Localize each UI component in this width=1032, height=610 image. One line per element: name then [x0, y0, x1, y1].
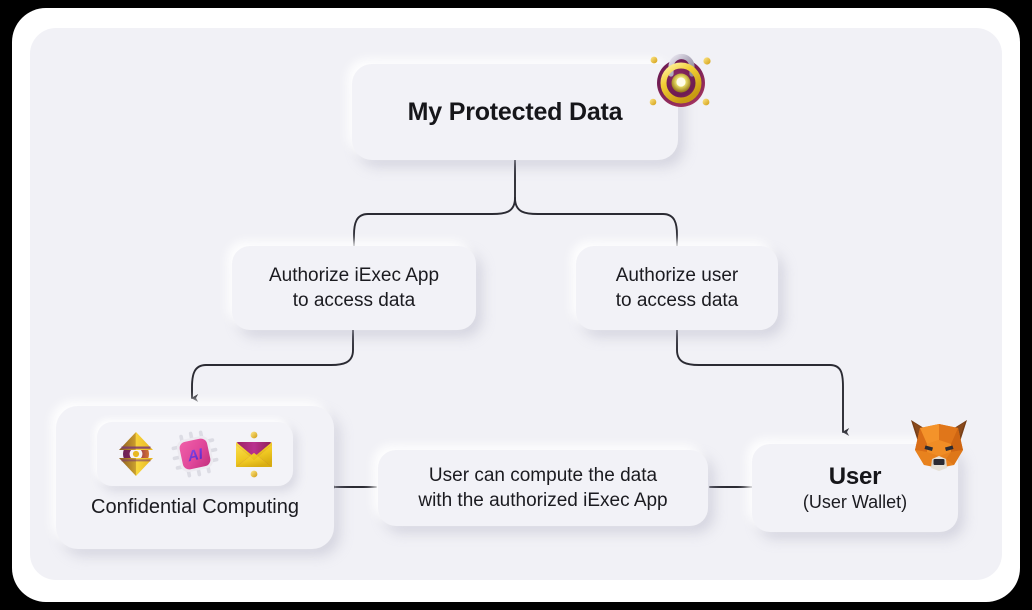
padlock-icon — [645, 50, 715, 120]
node-my-protected-data[interactable]: My Protected Data — [352, 64, 678, 160]
node-authorize-iexec-app[interactable]: Authorize iExec App to access data — [232, 246, 476, 330]
confidential-icon-panel: AI — [97, 422, 293, 486]
metamask-fox-icon — [908, 418, 970, 474]
node-title: User — [829, 463, 882, 491]
node-title: My Protected Data — [408, 98, 623, 127]
node-subtitle: (User Wallet) — [803, 492, 907, 513]
node-line-1: Authorize iExec App — [269, 263, 439, 288]
envelope-icon — [229, 429, 279, 479]
node-user-can-compute[interactable]: User can compute the data with the autho… — [378, 450, 708, 526]
node-line-1: User can compute the data — [429, 463, 657, 488]
screenshot-root: My Protected Data — [0, 0, 1032, 610]
node-line-2: to access data — [293, 288, 416, 313]
node-line-1: Authorize user — [616, 263, 739, 288]
ai-chip-icon: AI — [170, 429, 220, 479]
node-line-2: with the authorized iExec App — [418, 488, 667, 513]
node-confidential-computing[interactable]: AI — [56, 406, 334, 549]
node-caption: Confidential Computing — [91, 496, 299, 519]
node-authorize-user[interactable]: Authorize user to access data — [576, 246, 778, 330]
gem-icon — [111, 429, 161, 479]
node-line-2: to access data — [616, 288, 739, 313]
